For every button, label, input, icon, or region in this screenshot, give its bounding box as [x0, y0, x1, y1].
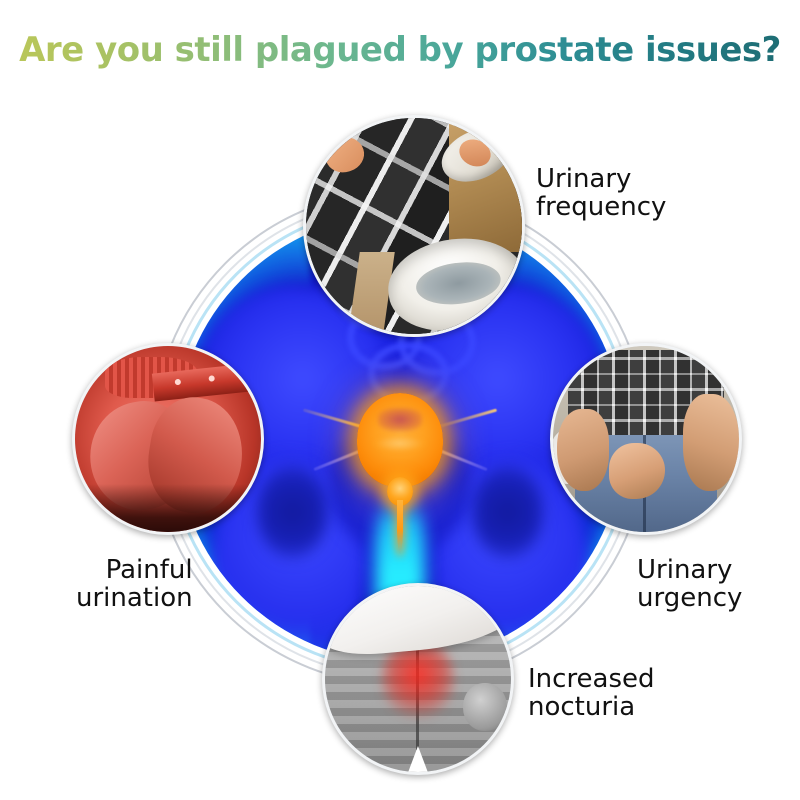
photo-lower-back-pain: [325, 586, 511, 772]
dark-clothing: [75, 484, 261, 532]
seminal-vesicles: [372, 434, 427, 453]
hip-socket-right: [472, 465, 544, 559]
symptom-photo-painful-urination: [72, 343, 264, 535]
poster-root: Are you still plagued by prostate issues…: [0, 0, 800, 800]
bladder-shape: [357, 393, 443, 487]
hand-fist: [463, 683, 508, 731]
bladder-cavity: [378, 408, 423, 430]
bladder-prostate-organ: [346, 393, 454, 554]
symptom-label-painful-urination: Painful urination: [76, 556, 193, 612]
symptom-photo-urinary-frequency: [303, 115, 525, 337]
hand-on-groin: [609, 443, 665, 499]
symptom-photo-urinary-urgency: [550, 343, 742, 535]
arm-left: [557, 409, 609, 491]
page-title: Are you still plagued by prostate issues…: [0, 30, 800, 70]
symptom-label-urinary-frequency: Urinary frequency: [536, 165, 666, 221]
urethra-shape: [397, 500, 403, 555]
photo-clasped-hands: [75, 346, 261, 532]
symptom-photo-increased-nocturia: [322, 583, 514, 775]
photo-man-at-toilet: [306, 118, 522, 334]
symptom-label-increased-nocturia: Increased nocturia: [528, 665, 655, 721]
photo-man-at-urinal: [553, 346, 739, 532]
symptom-label-urinary-urgency: Urinary urgency: [637, 556, 742, 612]
arm-right: [683, 394, 739, 491]
hip-socket-left: [257, 465, 329, 559]
